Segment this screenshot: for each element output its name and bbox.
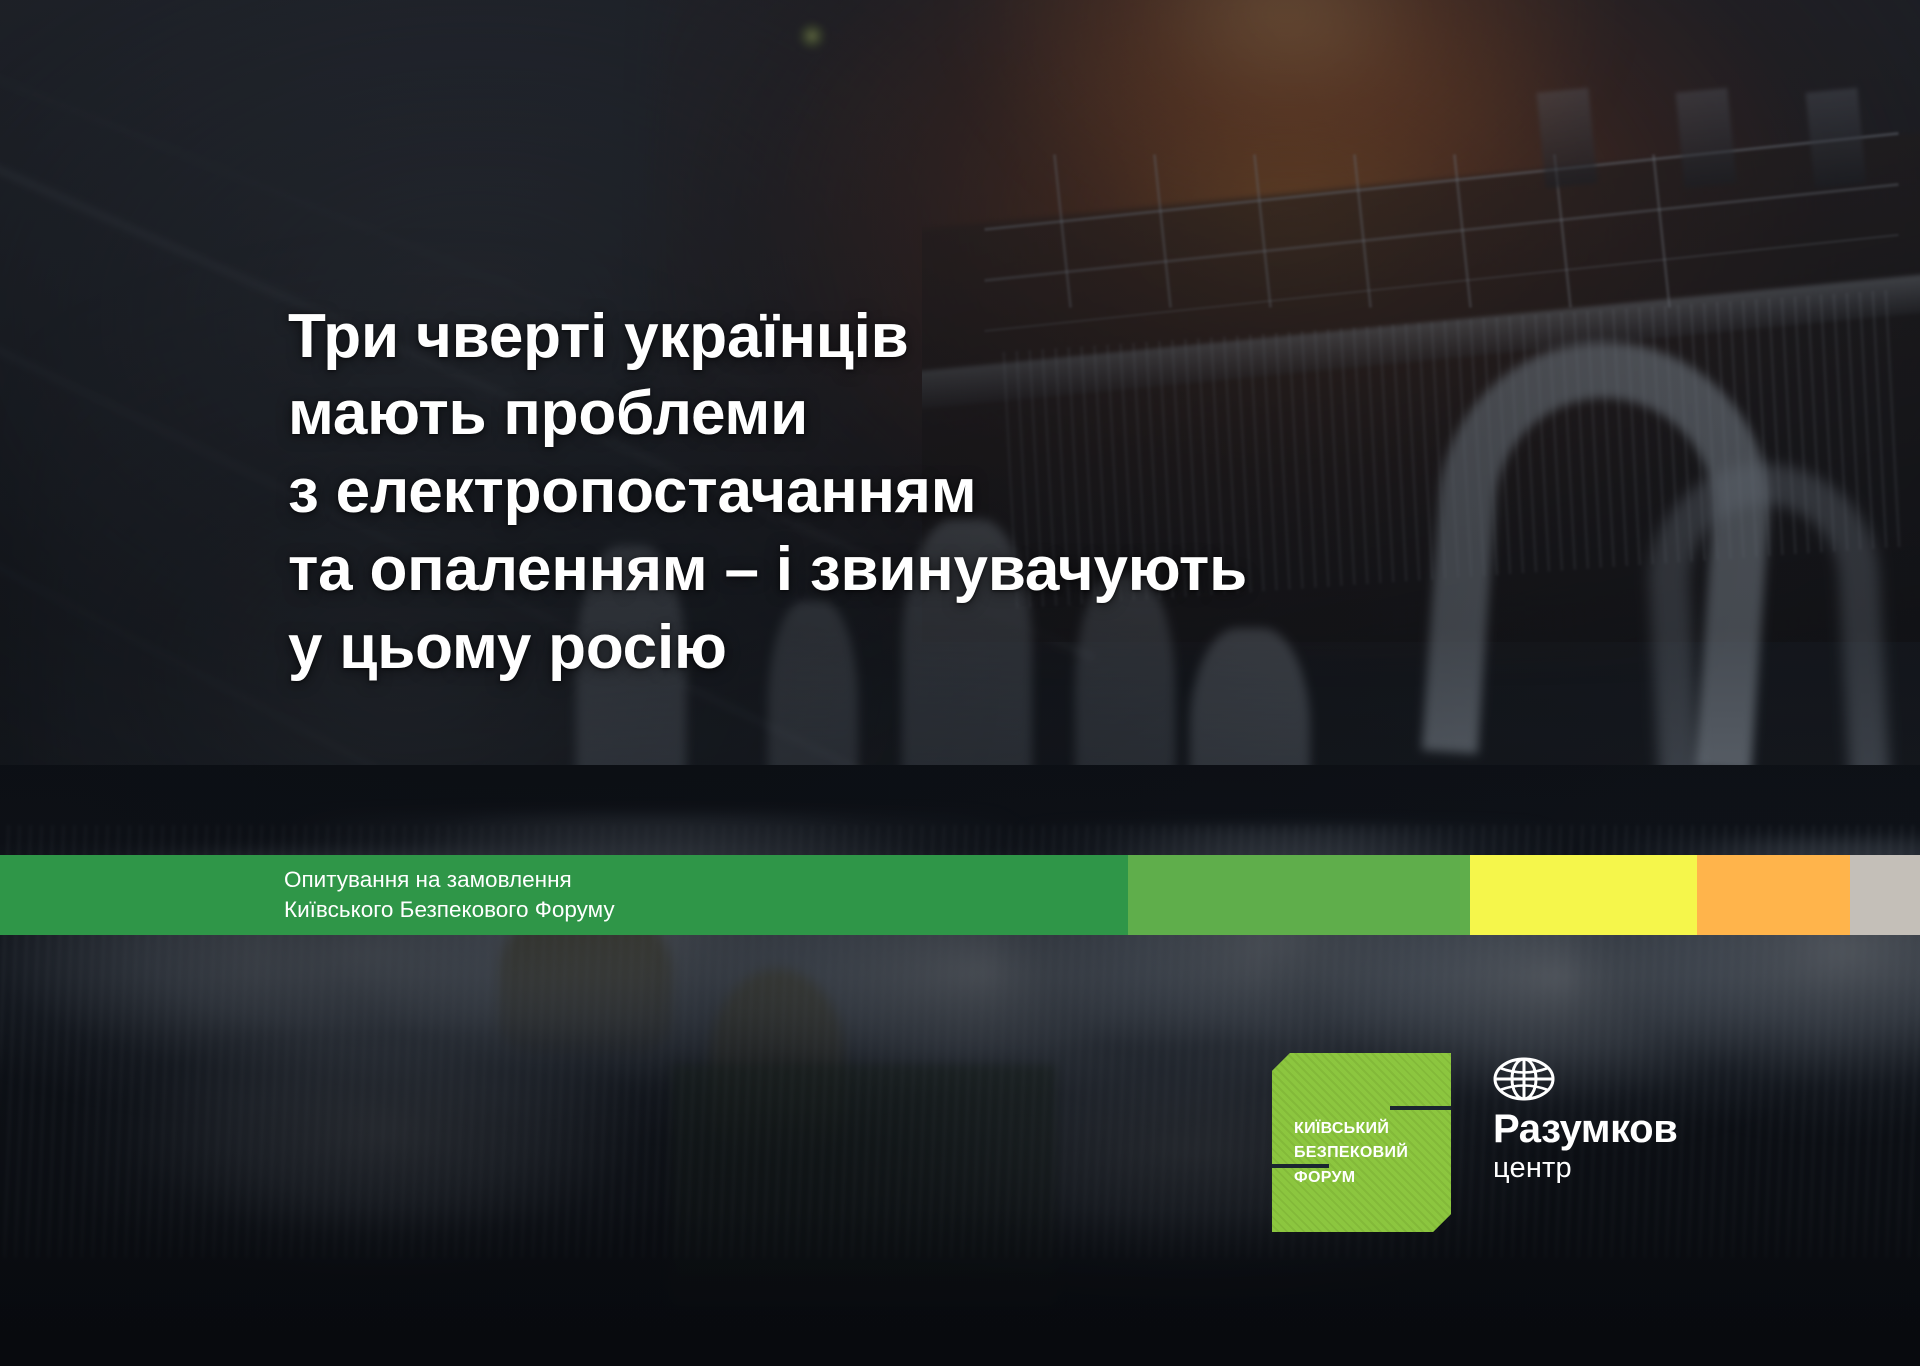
banner-caption: Опитування на замовлення Київського Безп… (284, 865, 615, 924)
poster-card: Три чверті українців мають проблеми з ел… (0, 0, 1920, 1366)
banner-segment-grey (1850, 855, 1920, 935)
razumkov-logo[interactable]: Разумков центр (1493, 1053, 1677, 1184)
globe-icon (1493, 1057, 1555, 1101)
banner-segment-green-dark: Опитування на замовлення Київського Безп… (0, 855, 1128, 935)
razumkov-logo-title: Разумков (1493, 1109, 1677, 1150)
kbf-logo[interactable]: КИЇВСЬКИЙ БЕЗПЕКОВИЙ ФОРУМ (1272, 1053, 1451, 1232)
razumkov-logo-subtitle: центр (1493, 1152, 1677, 1184)
kbf-logo-rule-top (1390, 1106, 1451, 1110)
kbf-logo-text: КИЇВСЬКИЙ БЕЗПЕКОВИЙ ФОРУМ (1294, 1117, 1408, 1190)
banner-segment-yellow (1470, 855, 1697, 935)
logo-row: КИЇВСЬКИЙ БЕЗПЕКОВИЙ ФОРУМ Разумков цент… (1272, 1053, 1677, 1232)
headline: Три чверті українців мають проблеми з ел… (288, 298, 1748, 687)
banner-segment-green-light (1128, 855, 1470, 935)
banner-strip: Опитування на замовлення Київського Безп… (0, 855, 1920, 935)
banner-segment-orange (1697, 855, 1850, 935)
